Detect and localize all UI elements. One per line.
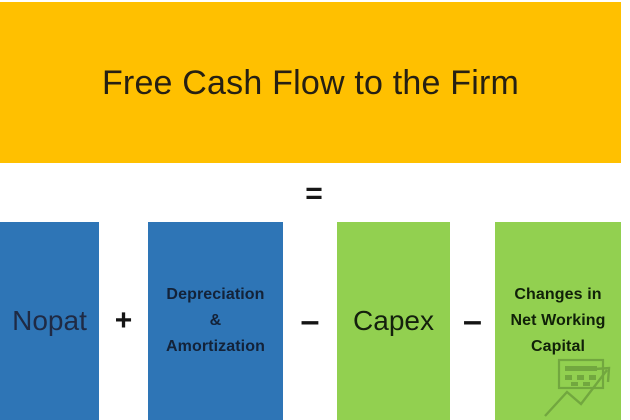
diagram-canvas: Free Cash Flow to the Firm = Nopat Depre… <box>0 0 630 420</box>
term-box-depreciation-amortization: Depreciation & Amortization <box>148 222 283 420</box>
term-line-3: Amortization <box>166 334 265 360</box>
term-line-2: Net Working <box>510 308 605 334</box>
term-box-changes-in-net-working-capital: Changes in Net Working Capital <box>495 222 621 420</box>
page-title: Free Cash Flow to the Firm <box>102 65 519 102</box>
term-line-1: Depreciation <box>166 282 265 308</box>
term-line-2: & <box>166 308 265 334</box>
equals-operator: = <box>298 176 330 212</box>
term-label-depreciation-amortization: Depreciation & Amortization <box>166 282 265 360</box>
term-box-nopat: Nopat <box>0 222 99 420</box>
minus-operator-1: – <box>283 222 337 420</box>
title-banner: Free Cash Flow to the Firm <box>0 2 621 163</box>
term-label-changes-in-net-working-capital: Changes in Net Working Capital <box>510 282 605 360</box>
term-line-3: Capital <box>510 334 605 360</box>
plus-operator: + <box>99 222 148 420</box>
bar-chart-growth-arrow-icon <box>539 356 619 420</box>
term-label-capex: Capex <box>353 306 434 337</box>
term-label-nopat: Nopat <box>12 306 87 337</box>
term-box-capex: Capex <box>337 222 450 420</box>
minus-operator-2: – <box>450 222 495 420</box>
term-line-1: Changes in <box>510 282 605 308</box>
